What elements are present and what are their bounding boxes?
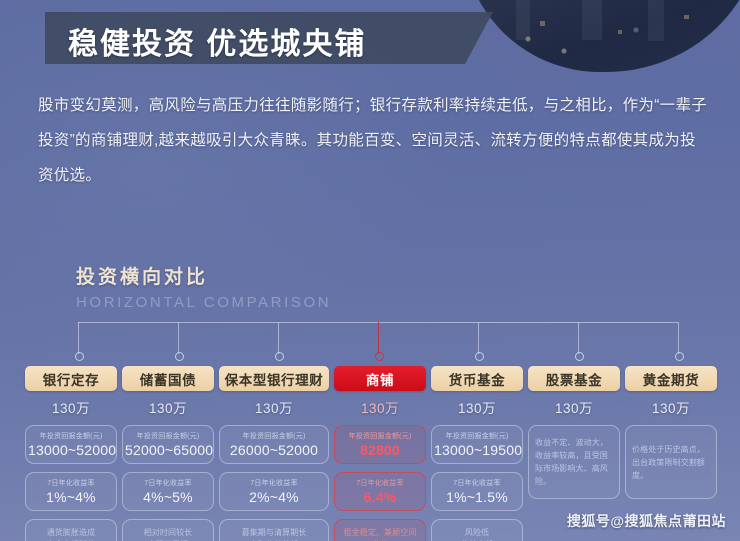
annual-rate-label: 7日年化收益率 — [31, 477, 112, 487]
principal-amount: 130万 — [149, 397, 187, 417]
comparison-column: 商铺130万年投资回报金额(元)828007日年化收益率6.4%租金稳定、兼顾空… — [334, 366, 426, 541]
building-block — [582, 0, 602, 40]
timeline-tick — [578, 322, 579, 354]
return-amount-value: 82800 — [337, 442, 423, 458]
annual-rate-box: 7日年化收益率1%~1.5% — [431, 472, 523, 511]
annual-rate-label: 7日年化收益率 — [128, 477, 209, 487]
annual-rate-value: 1%~1.5% — [434, 489, 520, 505]
watermark: 搜狐号@搜狐焦点莆田站 — [567, 511, 726, 531]
city-skyline-photo — [462, 0, 740, 72]
comparison-column: 储蓄国债130万年投资回报金额(元)52000~650007日年化收益率4%~5… — [122, 366, 214, 541]
principal-amount: 130万 — [361, 397, 399, 417]
return-amount-box: 年投资回报金额(元)82800 — [334, 425, 426, 464]
annual-rate-label: 7日年化收益率 — [340, 477, 421, 487]
product-chip[interactable]: 黄金期货 — [625, 366, 717, 391]
return-amount-label: 年投资回报金额(元) — [225, 430, 323, 440]
product-note-box: 通货膨胀造成资金变相贬值 — [25, 519, 117, 541]
product-chip[interactable]: 保本型银行理财 — [219, 366, 329, 391]
annual-rate-value: 1%~4% — [28, 489, 114, 505]
timeline-dot — [675, 352, 684, 361]
timeline-dot — [375, 352, 384, 361]
principal-amount: 130万 — [255, 397, 293, 417]
product-note-text: 价格处于历史高点，出台政策限制交割额度。 — [632, 443, 710, 482]
product-note-text: 相对时间较长变现不灵活 — [144, 527, 193, 541]
annual-rate-value: 4%~5% — [125, 489, 211, 505]
product-note-box: 收益不定、波动大，收益率较高，且受国际市场影响大、高风险。 — [528, 425, 620, 499]
comparison-column: 保本型银行理财130万年投资回报金额(元)26000~520007日年化收益率2… — [219, 366, 329, 541]
annual-rate-box: 7日年化收益率4%~5% — [122, 472, 214, 511]
principal-amount: 130万 — [555, 397, 593, 417]
return-amount-label: 年投资回报金额(元) — [128, 430, 209, 440]
timeline-tick — [678, 322, 679, 354]
annual-rate-box: 7日年化收益率6.4% — [334, 472, 426, 511]
intro-paragraph: 股市变幻莫测，高风险与高压力往往随影随行；银行存款利率持续走低，与之相比，作为“… — [38, 88, 710, 193]
product-chip[interactable]: 商铺 — [334, 366, 426, 391]
timeline-tick — [378, 322, 379, 354]
return-amount-label: 年投资回报金额(元) — [437, 430, 518, 440]
annual-rate-value: 6.4% — [337, 489, 423, 505]
page-title: 稳健投资 优选城央铺 — [68, 19, 366, 63]
annual-rate-box: 7日年化收益率1%~4% — [25, 472, 117, 511]
timeline-dot — [75, 352, 84, 361]
comparison-column: 货币基金130万年投资回报金额(元)13000~195007日年化收益率1%~1… — [431, 366, 523, 541]
product-note-box: 租金稳定、兼顾空间升值低风险、高抗通胀能力 — [334, 519, 426, 541]
timeline-tick — [78, 322, 79, 354]
return-amount-value: 26000~52000 — [222, 442, 326, 458]
building-block — [648, 0, 664, 41]
return-amount-box: 年投资回报金额(元)26000~52000 — [219, 425, 329, 464]
section-title-cn: 投资横向对比 — [76, 262, 331, 289]
product-chip[interactable]: 储蓄国债 — [122, 366, 214, 391]
product-note-text: 收益不定、波动大，收益率较高，且受国际市场影响大、高风险。 — [535, 436, 613, 488]
building-block — [516, 0, 530, 40]
annual-rate-box: 7日年化收益率2%~4% — [219, 472, 329, 511]
return-amount-box: 年投资回报金额(元)13000~19500 — [431, 425, 523, 464]
window-light — [618, 30, 622, 34]
poster-root: 稳健投资 优选城央铺 股市变幻莫测，高风险与高压力往往随影随行；银行存款利率持续… — [0, 0, 740, 541]
product-note-box: 相对时间较长变现不灵活 — [122, 519, 214, 541]
principal-amount: 130万 — [52, 397, 90, 417]
product-note-text: 通货膨胀造成资金变相贬值 — [47, 527, 96, 541]
section-title-en: HORIZONTAL COMPARISON — [76, 294, 331, 311]
product-chip[interactable]: 货币基金 — [431, 366, 523, 391]
return-amount-value: 13000~52000 — [28, 442, 114, 458]
comparison-timeline — [78, 322, 678, 323]
timeline-dot — [575, 352, 584, 361]
product-chip[interactable]: 银行定存 — [25, 366, 117, 391]
annual-rate-label: 7日年化收益率 — [225, 477, 323, 487]
return-amount-label: 年投资回报金额(元) — [31, 430, 112, 440]
timeline-tick — [278, 322, 279, 354]
window-light — [540, 21, 545, 26]
product-chip[interactable]: 股票基金 — [528, 366, 620, 391]
return-amount-label: 年投资回报金额(元) — [340, 430, 421, 440]
timeline-dot — [275, 352, 284, 361]
return-amount-value: 52000~65000 — [125, 442, 211, 458]
timeline-tick — [478, 322, 479, 354]
product-note-box: 价格处于历史高点，出台政策限制交割额度。 — [625, 425, 717, 499]
return-amount-box: 年投资回报金额(元)52000~65000 — [122, 425, 214, 464]
principal-amount: 130万 — [458, 397, 496, 417]
return-amount-value: 13000~19500 — [434, 442, 520, 458]
annual-rate-label: 7日年化收益率 — [437, 477, 518, 487]
annual-rate-value: 2%~4% — [222, 489, 326, 505]
product-note-text: 租金稳定、兼顾空间升值低风险、高抗通胀能力 — [341, 527, 419, 541]
section-heading: 投资横向对比 HORIZONTAL COMPARISON — [76, 262, 331, 311]
product-note-box: 风险低收益率低 — [431, 519, 523, 541]
product-note-box: 募集期与清算期长实际收益偏低 — [219, 519, 329, 541]
timeline-dot — [175, 352, 184, 361]
window-light — [684, 15, 689, 19]
product-note-text: 风险低收益率低 — [461, 527, 493, 541]
comparison-column: 银行定存130万年投资回报金额(元)13000~520007日年化收益率1%~4… — [25, 366, 117, 541]
principal-amount: 130万 — [652, 397, 690, 417]
product-note-text: 募集期与清算期长实际收益偏低 — [242, 527, 307, 541]
return-amount-box: 年投资回报金额(元)13000~52000 — [25, 425, 117, 464]
timeline-dot — [475, 352, 484, 361]
timeline-tick — [178, 322, 179, 354]
